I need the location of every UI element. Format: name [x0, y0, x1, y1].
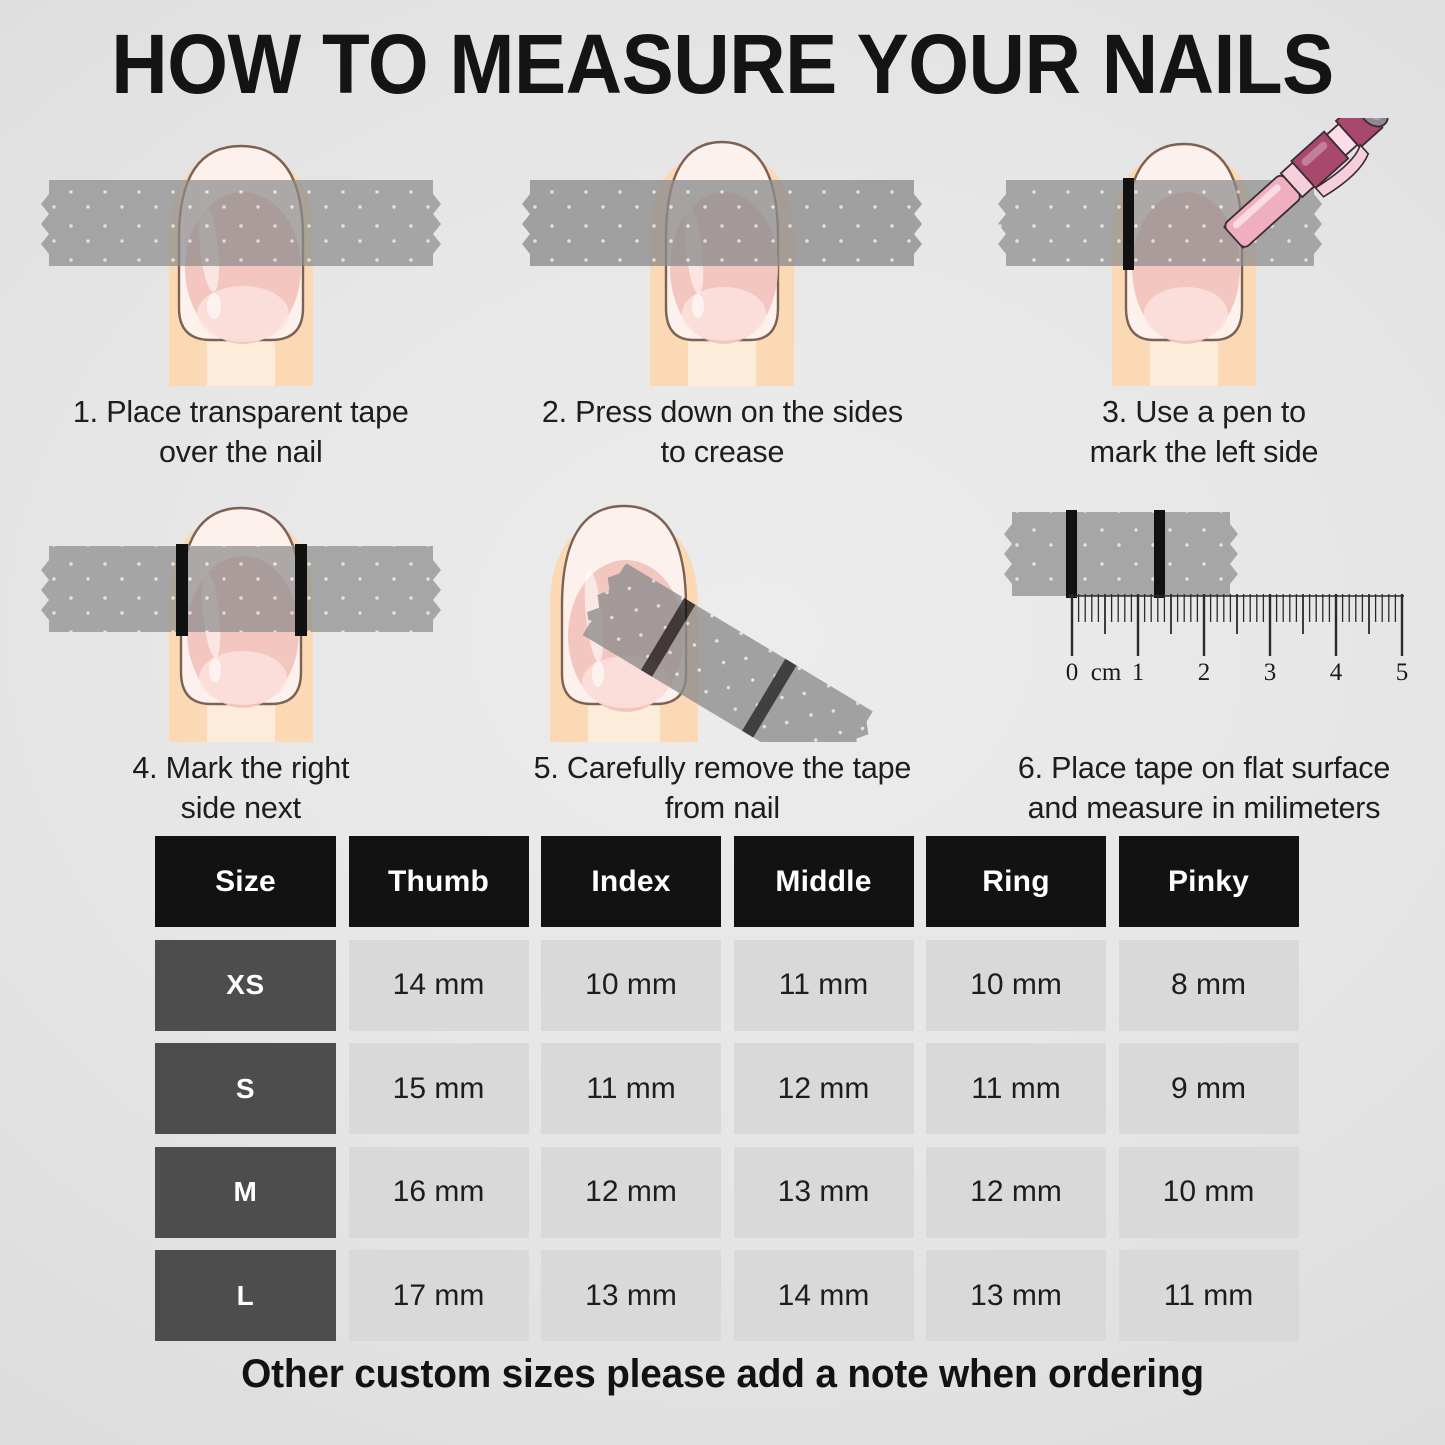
left-mark	[1066, 510, 1077, 598]
size-label-s: S	[155, 1043, 336, 1134]
left-mark	[176, 544, 188, 636]
cell-s-pinky: 9 mm	[1119, 1043, 1299, 1134]
header-ring: Ring	[926, 836, 1106, 927]
step-4-illustration	[31, 490, 451, 742]
step-6-illustration: 0 cm 1 2 3 4 5	[994, 490, 1414, 742]
cell-xs-pinky: 8 mm	[1119, 940, 1299, 1031]
cell-s-thumb: 15 mm	[349, 1043, 529, 1134]
cell-l-pinky: 11 mm	[1119, 1250, 1299, 1341]
step-4-caption: 4. Mark the right side next	[31, 748, 451, 828]
step-5-caption-line1: 5. Carefully remove the tape	[512, 748, 932, 788]
step-4-caption-line2: side next	[31, 788, 451, 828]
cell-s-ring: 11 mm	[926, 1043, 1106, 1134]
step-1-caption-line1: 1. Place transparent tape	[31, 392, 451, 432]
header-thumb: Thumb	[349, 836, 529, 927]
step-3: 3. Use a pen to mark the left side	[963, 118, 1445, 472]
cell-m-pinky: 10 mm	[1119, 1147, 1299, 1238]
ruler-tick-4: 4	[1330, 659, 1343, 686]
step-4: 4. Mark the right side next	[0, 490, 482, 828]
step-2-caption-line2: to crease	[512, 432, 932, 472]
step-2: 2. Press down on the sides to crease	[482, 118, 964, 472]
cell-m-index: 12 mm	[541, 1147, 721, 1238]
size-label-xs: XS	[155, 940, 336, 1031]
table-row: S 15 mm 11 mm 12 mm 11 mm 9 mm	[155, 1043, 1323, 1134]
size-label-m: M	[155, 1147, 336, 1238]
size-table: Size Thumb Index Middle Ring Pinky XS 14…	[155, 836, 1323, 1354]
steps-row-1: 1. Place transparent tape over the nail	[0, 118, 1445, 472]
step-3-caption-line2: mark the left side	[994, 432, 1414, 472]
step-2-caption: 2. Press down on the sides to crease	[512, 392, 932, 472]
step-6-caption-line1: 6. Place tape on flat surface	[974, 748, 1434, 788]
step-1: 1. Place transparent tape over the nail	[0, 118, 482, 472]
step-3-illustration	[994, 118, 1414, 386]
cell-s-index: 11 mm	[541, 1043, 721, 1134]
footer-note: Other custom sizes please add a note whe…	[22, 1352, 1424, 1397]
steps-row-2: 4. Mark the right side next	[0, 490, 1445, 828]
table-row: M 16 mm 12 mm 13 mm 12 mm 10 mm	[155, 1147, 1323, 1238]
table-header-row: Size Thumb Index Middle Ring Pinky	[155, 836, 1323, 927]
ruler-tick-0: 0	[1066, 659, 1079, 686]
ruler	[1068, 594, 1404, 656]
ruler-tick-2: 2	[1198, 659, 1211, 686]
tape-strip	[1004, 512, 1238, 596]
step-3-caption-line1: 3. Use a pen to	[994, 392, 1414, 432]
size-label-l: L	[155, 1250, 336, 1341]
cell-l-ring: 13 mm	[926, 1250, 1106, 1341]
table-row: XS 14 mm 10 mm 11 mm 10 mm 8 mm	[155, 940, 1323, 1031]
cell-xs-thumb: 14 mm	[349, 940, 529, 1031]
step-5-caption-line2: from nail	[512, 788, 932, 828]
cell-m-ring: 12 mm	[926, 1147, 1106, 1238]
table-row: L 17 mm 13 mm 14 mm 13 mm 11 mm	[155, 1250, 1323, 1341]
right-mark	[1154, 510, 1165, 598]
step-3-caption: 3. Use a pen to mark the left side	[994, 392, 1414, 472]
cell-l-thumb: 17 mm	[349, 1250, 529, 1341]
ruler-tick-5: 5	[1396, 659, 1409, 686]
left-mark	[1123, 178, 1134, 270]
step-5-illustration	[512, 490, 932, 742]
step-2-caption-line1: 2. Press down on the sides	[512, 392, 932, 432]
step-6-caption: 6. Place tape on flat surface and measur…	[974, 748, 1434, 828]
cell-xs-middle: 11 mm	[734, 940, 914, 1031]
cell-l-index: 13 mm	[541, 1250, 721, 1341]
page-title: HOW TO MEASURE YOUR NAILS	[51, 22, 1395, 106]
step-6: 0 cm 1 2 3 4 5 6. Place tape on flat sur…	[963, 490, 1445, 828]
cell-m-thumb: 16 mm	[349, 1147, 529, 1238]
step-1-caption: 1. Place transparent tape over the nail	[31, 392, 451, 472]
step-5-caption: 5. Carefully remove the tape from nail	[512, 748, 932, 828]
step-5: 5. Carefully remove the tape from nail	[482, 490, 964, 828]
ruler-tick-3: 3	[1264, 659, 1277, 686]
cell-s-middle: 12 mm	[734, 1043, 914, 1134]
ruler-unit-label: cm	[1091, 659, 1122, 686]
cell-xs-index: 10 mm	[541, 940, 721, 1031]
cell-m-middle: 13 mm	[734, 1147, 914, 1238]
step-1-caption-line2: over the nail	[31, 432, 451, 472]
step-1-illustration	[31, 118, 451, 386]
cell-l-middle: 14 mm	[734, 1250, 914, 1341]
step-4-caption-line1: 4. Mark the right	[31, 748, 451, 788]
step-2-illustration	[512, 118, 932, 386]
steps-section: 1. Place transparent tape over the nail	[0, 118, 1445, 828]
header-middle: Middle	[734, 836, 914, 927]
infographic-page: HOW TO MEASURE YOUR NAILS	[0, 0, 1445, 1445]
header-index: Index	[541, 836, 721, 927]
step-6-caption-line2: and measure in milimeters	[974, 788, 1434, 828]
right-mark	[295, 544, 307, 636]
header-size: Size	[155, 836, 336, 927]
cell-xs-ring: 10 mm	[926, 940, 1106, 1031]
ruler-tick-1: 1	[1132, 659, 1145, 686]
header-pinky: Pinky	[1119, 836, 1299, 927]
